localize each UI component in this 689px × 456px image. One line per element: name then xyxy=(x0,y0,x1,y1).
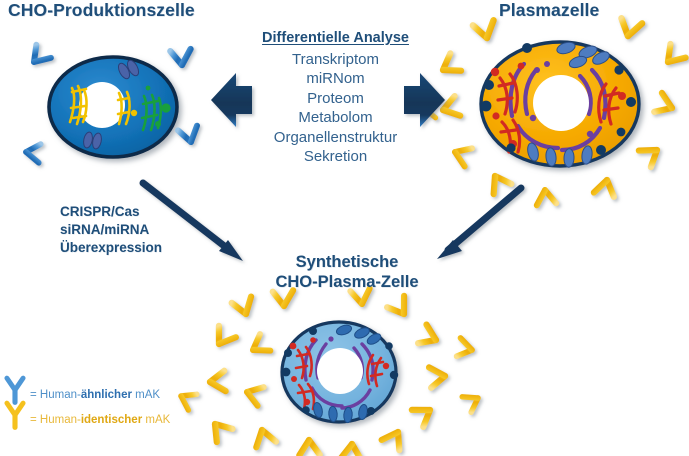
analysis-item-proteom: Proteom xyxy=(243,89,428,109)
legend-item-human-identical: = Human-identischer mAK xyxy=(30,414,170,426)
legend-antibody-yellow-icon xyxy=(7,403,23,427)
legend-suffix-1: mAK xyxy=(132,389,160,401)
analysis-item-organellenstruktur: Organellenstruktur xyxy=(243,128,428,148)
legend-emphasis-2: identischer xyxy=(81,414,142,426)
nucleus xyxy=(533,75,589,131)
differential-analysis-header: Differentielle Analyse xyxy=(262,29,409,49)
legend-emphasis-1: ähnlicher xyxy=(81,389,132,401)
method-sirna-mirna: siRNA/miRNA xyxy=(60,221,200,239)
legend-antibody-blue-icon xyxy=(7,378,23,402)
nucleus xyxy=(317,348,363,394)
synthetic-title-line-2: CHO-Plasma-Zelle xyxy=(275,273,418,291)
method-crispr-cas: CRISPR/Cas xyxy=(60,203,200,221)
engineering-methods-block: CRISPR/Cas siRNA/miRNA Überexpression xyxy=(60,203,200,257)
analysis-item-mirnom: miRNom xyxy=(243,69,428,89)
page-title-cho-cell: CHO-Produktionszelle xyxy=(8,0,195,21)
analysis-item-sekretion: Sekretion xyxy=(243,147,428,167)
page-title-plasma-cell: Plasmazelle xyxy=(499,0,599,21)
method-ueberexpression: Überexpression xyxy=(60,239,200,257)
diagram-canvas: CHO-Produktionszelle Plasmazelle Synthet… xyxy=(0,0,689,456)
page-title-synthetic-cell: Synthetische CHO-Plasma-Zelle xyxy=(252,252,442,292)
legend-prefix-1: = Human- xyxy=(30,389,81,401)
analysis-item-transkriptom: Transkriptom xyxy=(243,50,428,70)
analysis-item-metabolom: Metabolom xyxy=(243,108,428,128)
arrow-plasma-to-synthetic xyxy=(437,188,521,259)
legend-item-human-similar: = Human-ähnlicher mAK xyxy=(30,389,160,401)
legend-prefix-2: = Human- xyxy=(30,414,81,426)
differential-analysis-block: Differentielle Analyse Transkriptom miRN… xyxy=(243,28,428,167)
legend-suffix-2: mAK xyxy=(142,414,170,426)
synthetic-title-line-1: Synthetische xyxy=(296,253,399,271)
